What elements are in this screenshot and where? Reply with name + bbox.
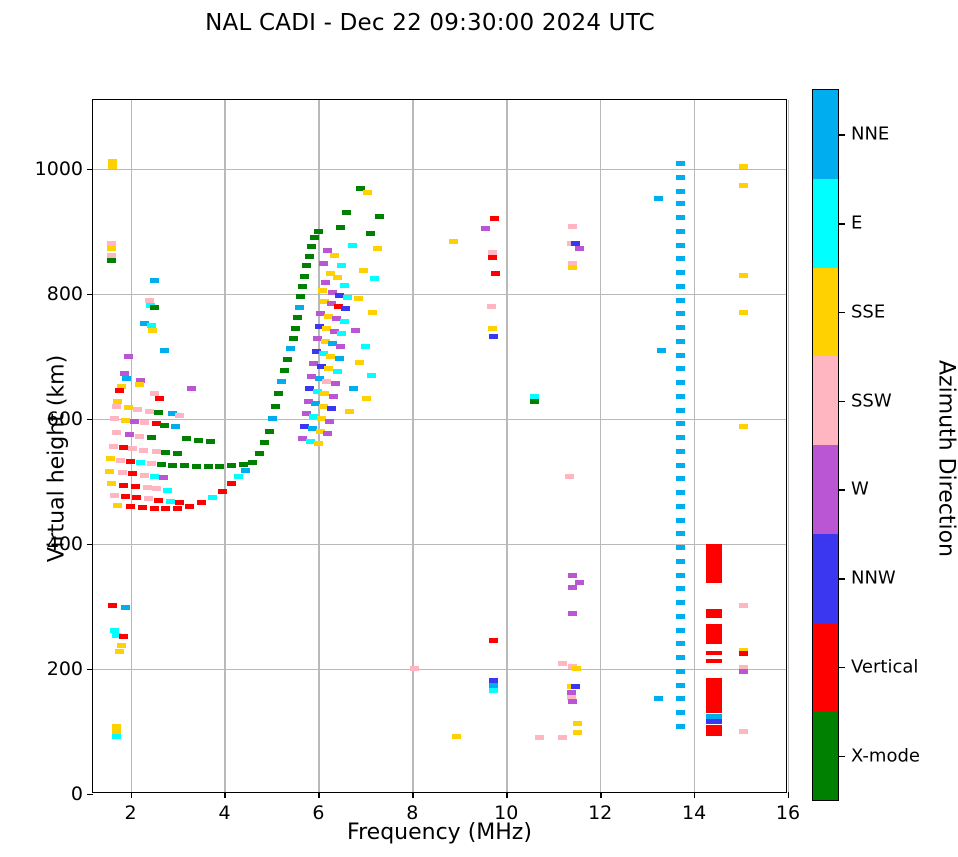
data-point: [361, 344, 370, 349]
data-point: [676, 421, 685, 426]
data-point: [676, 408, 685, 413]
data-point: [739, 651, 748, 656]
data-block: [706, 725, 722, 736]
data-point: [135, 382, 144, 387]
data-point: [107, 246, 116, 251]
data-point: [152, 486, 161, 491]
data-point: [132, 495, 141, 500]
y-tick: [87, 294, 93, 295]
data-point: [206, 439, 215, 444]
data-point: [739, 669, 748, 674]
data-point: [321, 280, 330, 285]
data-point: [106, 456, 115, 461]
data-point: [676, 669, 685, 674]
data-point: [676, 243, 685, 248]
data-point: [160, 423, 169, 428]
data-point: [187, 386, 196, 391]
colorbar-label-w: W: [851, 479, 869, 500]
data-point: [314, 229, 323, 234]
data-point: [296, 294, 305, 299]
x-tick: [131, 792, 132, 798]
y-axis-label: Virtual height (km): [45, 309, 70, 609]
data-point: [122, 376, 131, 381]
data-point: [128, 446, 137, 451]
data-point: [359, 268, 368, 273]
data-point: [143, 485, 152, 490]
data-point: [319, 261, 328, 266]
data-point: [565, 474, 574, 479]
data-point: [157, 462, 166, 467]
data-point: [112, 734, 121, 739]
colorbar-segment-ssw[interactable]: [813, 356, 838, 445]
data-point: [331, 381, 340, 386]
data-point: [739, 164, 748, 169]
data-point: [277, 379, 286, 384]
data-point: [336, 225, 345, 230]
colorbar-tick: [838, 756, 845, 757]
data-point: [676, 353, 685, 358]
data-point: [125, 432, 134, 437]
data-point: [739, 729, 748, 734]
data-point: [571, 684, 580, 689]
data-point: [336, 344, 345, 349]
data-point: [575, 246, 584, 251]
data-point: [171, 424, 180, 429]
colorbar-tick: [838, 223, 845, 224]
data-point: [676, 311, 685, 316]
ionogram-plot: 24681012141602004006008001000: [92, 99, 787, 793]
y-tick: [87, 419, 93, 420]
data-point: [676, 724, 685, 729]
data-point: [676, 175, 685, 180]
data-point: [161, 450, 170, 455]
colorbar-tick: [838, 667, 845, 668]
data-point: [340, 319, 349, 324]
data-point: [676, 284, 685, 289]
data-point: [121, 605, 130, 610]
colorbar-tick: [838, 489, 845, 490]
data-point: [739, 603, 748, 608]
data-point: [298, 284, 307, 289]
data-point: [676, 531, 685, 536]
data-point: [676, 201, 685, 206]
y-tick: [87, 169, 93, 170]
data-point: [310, 235, 319, 240]
data-point: [109, 444, 118, 449]
colorbar-tick: [838, 578, 845, 579]
data-point: [118, 470, 127, 475]
data-point: [150, 305, 159, 310]
data-point: [147, 435, 156, 440]
data-point: [291, 326, 300, 331]
data-point: [676, 490, 685, 495]
data-point: [676, 189, 685, 194]
y-tick-label: 200: [47, 658, 83, 680]
data-point: [314, 441, 323, 446]
data-point: [107, 253, 116, 258]
data-point: [144, 496, 153, 501]
data-point: [330, 253, 339, 258]
colorbar-label-e: E: [851, 213, 862, 234]
data-point: [558, 735, 567, 740]
data-points: [93, 100, 786, 792]
data-point: [107, 258, 116, 263]
data-point: [271, 404, 280, 409]
data-point: [530, 399, 539, 404]
data-point: [239, 462, 248, 467]
data-point: [490, 216, 499, 221]
data-point: [136, 460, 145, 465]
data-point: [180, 463, 189, 468]
x-tick: [412, 792, 413, 798]
data-point: [373, 246, 382, 251]
data-point: [107, 481, 116, 486]
data-point: [192, 464, 201, 469]
data-point: [241, 468, 250, 473]
data-point: [274, 391, 283, 396]
colorbar-label-ssw: SSW: [851, 390, 892, 411]
data-point: [368, 310, 377, 315]
data-point: [676, 435, 685, 440]
data-point: [739, 424, 748, 429]
data-point: [112, 430, 121, 435]
data-point: [362, 396, 371, 401]
colorbar-segment-e[interactable]: [813, 179, 838, 268]
data-point: [108, 164, 117, 169]
data-point: [654, 196, 663, 201]
data-point: [568, 573, 577, 578]
data-point: [168, 463, 177, 468]
y-tick: [87, 669, 93, 670]
colorbar-tick: [838, 312, 845, 313]
data-point: [488, 326, 497, 331]
data-point: [140, 420, 149, 425]
page-title: NAL CADI - Dec 22 09:30:00 2024 UTC: [0, 10, 860, 36]
data-point: [173, 506, 182, 511]
data-point: [121, 494, 130, 499]
colorbar-segment-x-mode[interactable]: [813, 711, 838, 800]
colorbar-label: Azimuth Direction: [934, 309, 958, 609]
data-point: [333, 275, 342, 280]
data-point: [286, 346, 295, 351]
data-point: [342, 210, 351, 215]
data-point: [739, 273, 748, 278]
data-block: [706, 609, 722, 618]
data-point: [138, 505, 147, 510]
data-point: [676, 394, 685, 399]
data-point: [676, 696, 685, 701]
data-point: [215, 464, 224, 469]
data-point: [150, 506, 159, 511]
data-point: [676, 710, 685, 715]
data-point: [131, 484, 140, 489]
data-point: [335, 356, 344, 361]
data-point: [148, 328, 157, 333]
x-tick: [694, 792, 695, 798]
data-point: [124, 405, 133, 410]
data-point: [370, 276, 379, 281]
data-point: [558, 661, 567, 666]
data-point: [333, 369, 342, 374]
colorbar-tick: [838, 401, 845, 402]
data-point: [295, 305, 304, 310]
data-point: [657, 348, 666, 353]
data-point: [363, 190, 372, 195]
data-point: [573, 730, 582, 735]
colorbar-label-sse: SSE: [851, 301, 885, 322]
y-tick: [87, 794, 93, 795]
colorbar-label-vertical: Vertical: [851, 656, 918, 677]
data-point: [568, 224, 577, 229]
data-point: [487, 304, 496, 309]
data-point: [676, 683, 685, 688]
x-tick: [600, 792, 601, 798]
colorbar-label-nne: NNE: [851, 124, 889, 145]
y-tick-label: 1000: [35, 158, 83, 180]
data-point: [572, 666, 581, 671]
data-point: [130, 419, 139, 424]
data-point: [140, 473, 149, 478]
data-point: [265, 429, 274, 434]
colorbar-segment-sse[interactable]: [813, 268, 838, 357]
data-point: [676, 298, 685, 303]
data-point: [117, 643, 126, 648]
data-point: [152, 449, 161, 454]
data-point: [676, 600, 685, 605]
data-point: [150, 278, 159, 283]
data-point: [355, 360, 364, 365]
data-point: [351, 328, 360, 333]
data-point: [348, 243, 357, 248]
data-point: [155, 396, 164, 401]
data-point: [676, 545, 685, 550]
data-block: [706, 678, 722, 713]
data-point: [676, 655, 685, 660]
data-point: [119, 634, 128, 639]
data-point: [488, 255, 497, 260]
data-point: [349, 386, 358, 391]
data-point: [218, 489, 227, 494]
data-point: [676, 628, 685, 633]
data-point: [481, 226, 490, 231]
data-point: [300, 274, 309, 279]
data-point: [568, 585, 577, 590]
data-point: [327, 406, 336, 411]
data-point: [115, 388, 124, 393]
data-point: [323, 431, 332, 436]
colorbar-label-x-mode: X-mode: [851, 745, 920, 766]
data-point: [739, 310, 748, 315]
data-point: [227, 463, 236, 468]
data-point: [337, 263, 346, 268]
data-point: [491, 271, 500, 276]
data-point: [489, 688, 498, 693]
data-point: [676, 229, 685, 234]
y-tick-label: 800: [47, 283, 83, 305]
data-point: [145, 409, 154, 414]
data-point: [676, 380, 685, 385]
data-point: [676, 366, 685, 371]
x-tick: [506, 792, 507, 798]
data-point: [260, 440, 269, 445]
data-block: [706, 544, 722, 583]
data-point: [302, 263, 311, 268]
data-point: [341, 306, 350, 311]
data-block: [706, 624, 722, 644]
data-point: [116, 458, 125, 463]
data-point: [354, 296, 363, 301]
data-point: [676, 504, 685, 509]
data-block: [706, 659, 722, 663]
data-point: [161, 506, 170, 511]
data-point: [268, 416, 277, 421]
data-point: [112, 404, 121, 409]
data-point: [676, 256, 685, 261]
data-point: [163, 488, 172, 493]
data-point: [676, 339, 685, 344]
data-point: [147, 461, 156, 466]
x-tick: [224, 792, 225, 798]
x-tick: [788, 792, 789, 798]
x-axis-label: Frequency (MHz): [92, 820, 787, 845]
data-point: [676, 586, 685, 591]
data-point: [289, 336, 298, 341]
x-tick: [318, 792, 319, 798]
data-point: [280, 368, 289, 373]
data-point: [110, 416, 119, 421]
data-point: [676, 161, 685, 166]
data-point: [452, 734, 461, 739]
data-point: [340, 283, 349, 288]
data-point: [197, 500, 206, 505]
data-point: [115, 649, 124, 654]
data-point: [185, 504, 194, 509]
data-point: [124, 354, 133, 359]
data-point: [568, 699, 577, 704]
data-point: [676, 518, 685, 523]
data-point: [204, 464, 213, 469]
data-point: [676, 641, 685, 646]
data-point: [133, 407, 142, 412]
data-point: [676, 614, 685, 619]
data-point: [568, 265, 577, 270]
data-point: [676, 325, 685, 330]
data-point: [535, 735, 544, 740]
data-point: [160, 348, 169, 353]
data-point: [449, 239, 458, 244]
data-point: [573, 721, 582, 726]
data-point: [110, 493, 119, 498]
data-point: [173, 451, 182, 456]
data-point: [676, 573, 685, 578]
data-point: [676, 559, 685, 564]
data-point: [676, 449, 685, 454]
y-tick-label: 0: [71, 783, 83, 805]
data-point: [676, 476, 685, 481]
data-point: [654, 696, 663, 701]
data-point: [489, 334, 498, 339]
data-point: [105, 469, 114, 474]
data-point: [154, 498, 163, 503]
data-point: [489, 638, 498, 643]
colorbar-tick: [838, 134, 845, 135]
data-point: [676, 215, 685, 220]
data-point: [234, 474, 243, 479]
data-point: [345, 409, 354, 414]
data-point: [119, 483, 128, 488]
colorbar-segment-nnw[interactable]: [813, 534, 838, 623]
data-point: [166, 499, 175, 504]
data-block: [706, 719, 722, 724]
data-point: [182, 436, 191, 441]
y-tick: [87, 544, 93, 545]
data-point: [113, 503, 122, 508]
data-point: [248, 460, 257, 465]
data-point: [283, 357, 292, 362]
data-point: [293, 315, 302, 320]
data-point: [126, 504, 135, 509]
data-point: [367, 373, 376, 378]
data-point: [307, 244, 316, 249]
data-point: [139, 448, 148, 453]
gridline-vertical: [788, 100, 789, 792]
data-point: [227, 481, 236, 486]
data-point: [343, 295, 352, 300]
data-point: [676, 463, 685, 468]
data-point: [135, 434, 144, 439]
data-point: [337, 331, 346, 336]
data-point: [175, 500, 184, 505]
data-point: [329, 394, 338, 399]
colorbar-segment-w[interactable]: [813, 445, 838, 534]
data-point: [208, 495, 217, 500]
data-point: [410, 666, 419, 671]
data-point: [108, 603, 117, 608]
data-point: [318, 288, 327, 293]
data-point: [325, 419, 334, 424]
data-point: [154, 410, 163, 415]
data-point: [739, 183, 748, 188]
data-point: [676, 270, 685, 275]
colorbar-label-nnw: NNW: [851, 568, 896, 589]
data-point: [159, 475, 168, 480]
data-point: [194, 438, 203, 443]
data-point: [568, 611, 577, 616]
data-point: [119, 445, 128, 450]
data-point: [305, 254, 314, 259]
colorbar-legend: NNEESSESSWWNNWVerticalX-mode: [812, 89, 839, 801]
data-point: [128, 471, 137, 476]
data-block: [706, 651, 722, 655]
data-point: [366, 231, 375, 236]
data-point: [126, 459, 135, 464]
data-point: [175, 413, 184, 418]
colorbar-segment-vertical[interactable]: [813, 623, 838, 712]
data-point: [255, 451, 264, 456]
data-point: [375, 214, 384, 219]
colorbar-segment-nne[interactable]: [813, 90, 838, 179]
